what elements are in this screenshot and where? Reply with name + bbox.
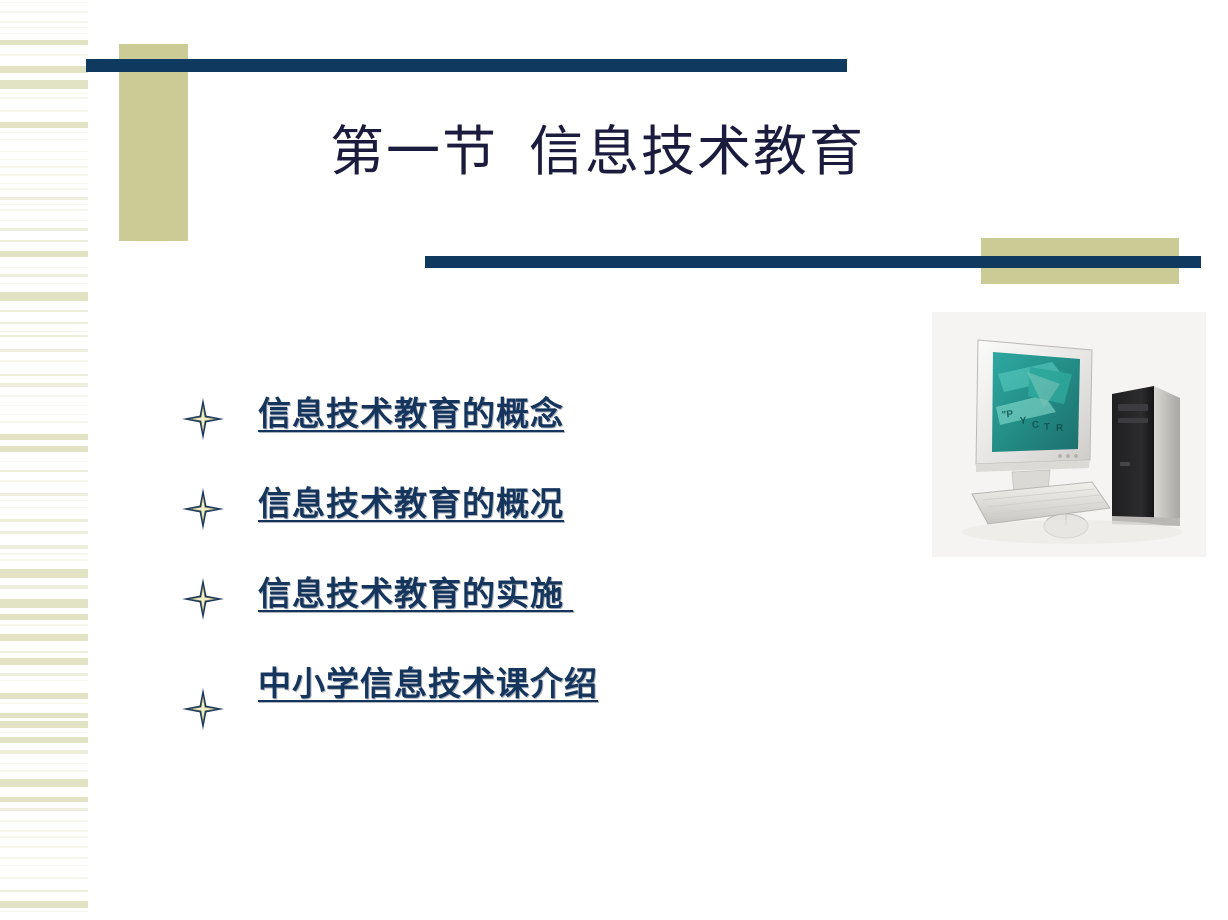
stripe-line — [0, 599, 88, 608]
stripe-line — [0, 901, 88, 908]
stripe-line — [0, 911, 88, 912]
stripe-line — [0, 846, 88, 848]
stripe-line — [0, 97, 88, 99]
list-item[interactable]: 信息技术教育的概况 — [182, 482, 882, 572]
svg-text:"P: "P — [1001, 409, 1014, 421]
four-point-star-bullet-icon — [182, 578, 224, 620]
khaki-vertical-block — [119, 44, 188, 241]
list-item[interactable]: 信息技术教育的实施 — [182, 572, 882, 662]
stripe-line — [0, 151, 88, 152]
stripe-line — [0, 2, 88, 3]
four-point-star-bullet-icon — [182, 688, 224, 730]
slide-canvas: 第一节 信息技术教育 信息技术教育的概念 信息技术教育的概况 — [0, 0, 1228, 920]
stripe-line — [0, 27, 88, 28]
svg-text:R: R — [1056, 423, 1064, 434]
stripe-line — [0, 836, 88, 838]
stripe-line — [0, 188, 88, 190]
list-item[interactable]: 中小学信息技术课介绍 — [182, 662, 882, 752]
stripe-line — [0, 624, 88, 626]
slide-title: 第一节 信息技术教育 — [330, 116, 865, 188]
list-item[interactable]: 信息技术教育的概念 — [182, 392, 882, 482]
stripe-line — [0, 11, 88, 13]
stripe-line — [0, 267, 88, 268]
stripe-line — [0, 349, 88, 352]
stripe-line — [0, 820, 88, 822]
bullet-list: 信息技术教育的概念 信息技术教育的概况 信息技术教育的实施 — [182, 392, 882, 752]
stripe-line — [0, 779, 88, 787]
stripe-line — [0, 33, 88, 34]
stripe-line — [0, 545, 88, 549]
stripe-line — [0, 183, 88, 184]
stripe-line — [0, 770, 88, 772]
stripe-line — [0, 220, 88, 221]
stripe-line — [0, 197, 88, 200]
navy-rule-top — [86, 59, 847, 72]
list-item-label[interactable]: 信息技术教育的概念 — [258, 392, 564, 438]
four-point-star-bullet-icon — [182, 488, 224, 530]
stripe-line — [0, 693, 88, 699]
stripe-line — [0, 274, 88, 277]
stripe-line — [0, 209, 88, 211]
stripe-line — [0, 830, 88, 832]
stripe-line — [0, 808, 88, 811]
stripe-line — [0, 405, 88, 406]
stripe-line — [0, 703, 88, 704]
left-striped-band — [0, 0, 88, 920]
navy-rule-middle — [425, 256, 1201, 268]
stripe-line — [0, 228, 88, 231]
stripe-line — [0, 553, 88, 555]
list-item-label[interactable]: 信息技术教育的概况 — [258, 482, 564, 528]
stripe-line — [0, 737, 88, 743]
four-point-star-bullet-icon — [182, 398, 224, 440]
stripe-line — [0, 322, 88, 324]
stripe-line — [0, 797, 88, 802]
stripe-line — [0, 283, 88, 284]
stripe-line — [0, 750, 88, 754]
stripe-line — [0, 240, 88, 242]
stripe-line — [0, 651, 88, 653]
stripe-line — [0, 680, 88, 681]
stripe-line — [0, 732, 88, 733]
stripe-line — [0, 132, 88, 133]
svg-text:Y: Y — [1019, 416, 1027, 427]
stripe-line — [0, 335, 88, 337]
stripe-line — [0, 395, 88, 397]
stripe-line — [0, 569, 88, 578]
svg-text:C: C — [1032, 420, 1040, 431]
stripe-line — [0, 585, 88, 589]
stripe-line — [0, 159, 88, 160]
list-item-label[interactable]: 中小学信息技术课介绍 — [258, 662, 598, 708]
stripe-line — [0, 493, 88, 496]
svg-text:T: T — [1044, 422, 1050, 433]
stripe-line — [0, 251, 88, 257]
stripe-line — [0, 383, 88, 387]
stripe-line — [0, 507, 88, 508]
stripe-line — [0, 434, 88, 440]
stripe-line — [0, 531, 88, 534]
stripe-line — [0, 446, 88, 452]
desktop-computer-photo: "P Y C T R — [932, 312, 1206, 557]
stripe-line — [0, 54, 88, 56]
stripe-line — [0, 673, 88, 676]
stripe-line — [0, 374, 88, 376]
stripe-line — [0, 204, 88, 205]
stripe-line — [0, 93, 88, 94]
stripe-line — [0, 890, 88, 892]
stripe-line — [0, 658, 88, 665]
stripe-line — [0, 721, 88, 728]
stripe-line — [0, 634, 88, 641]
stripe-line — [0, 857, 88, 859]
stripe-line — [0, 500, 88, 501]
stripe-line — [0, 139, 88, 140]
stripe-line — [0, 174, 88, 176]
stripe-line — [0, 480, 88, 482]
stripe-line — [0, 461, 88, 462]
stripe-line — [0, 559, 88, 561]
stripe-line — [0, 292, 88, 301]
list-item-label[interactable]: 信息技术教育的实施 — [258, 572, 573, 618]
stripe-line — [0, 614, 88, 620]
stripe-line — [0, 421, 88, 423]
stripe-line — [0, 713, 88, 718]
stripe-line — [0, 310, 88, 312]
stripe-line — [0, 21, 88, 23]
stripe-line — [0, 414, 88, 415]
stripe-line — [0, 66, 88, 73]
stripe-line — [0, 360, 88, 362]
stripe-line — [0, 80, 88, 89]
stripe-line — [0, 470, 88, 472]
stripe-line — [0, 763, 88, 764]
stripe-line — [0, 122, 88, 128]
stripe-line — [0, 877, 88, 879]
stripe-line — [0, 40, 88, 45]
stripe-line — [0, 331, 88, 332]
stripe-line — [0, 110, 88, 112]
stripe-line — [0, 865, 88, 866]
stripe-line — [0, 166, 88, 168]
stripe-line — [0, 519, 88, 522]
